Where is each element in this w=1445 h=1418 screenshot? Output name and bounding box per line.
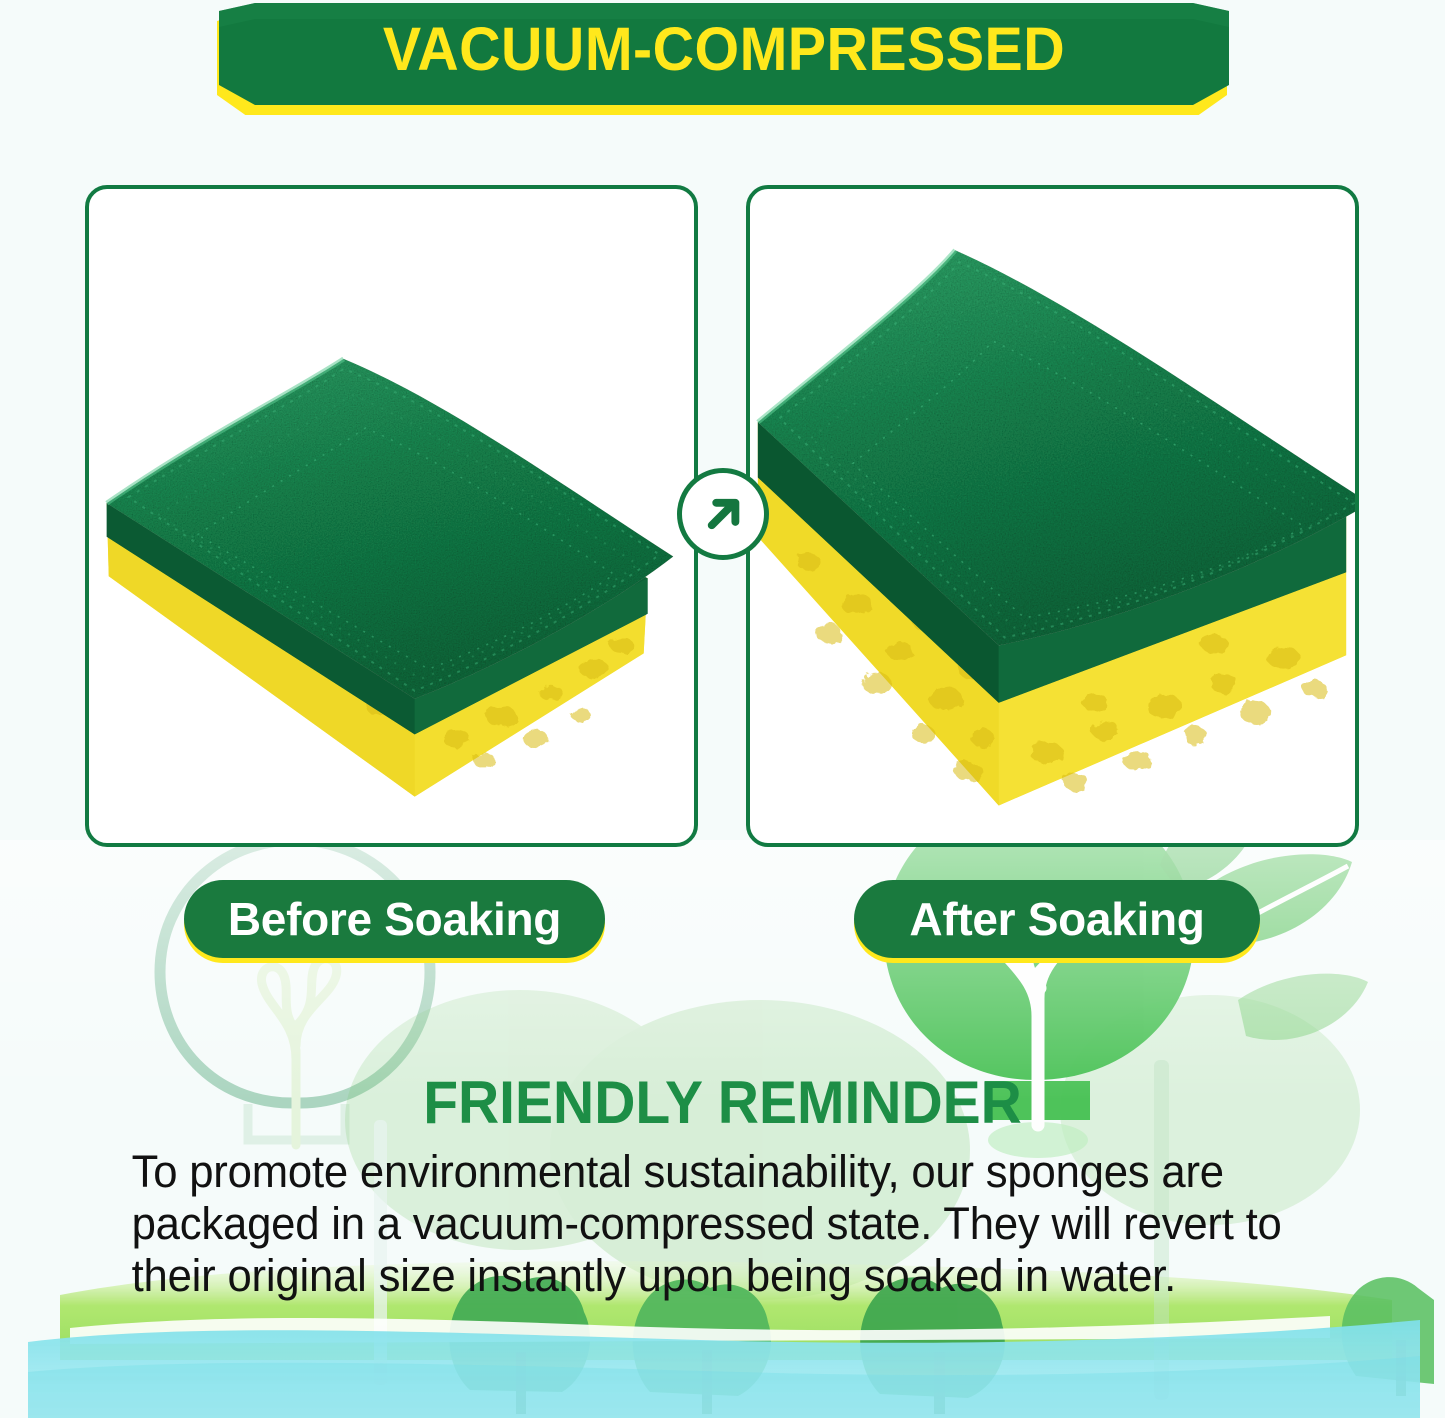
reminder-body-text: To promote environmental sustainability,… [118, 1146, 1292, 1302]
friendly-reminder-section: FRIENDLY REMINDER To promote environment… [0, 1070, 1445, 1302]
banner-title: VACUUM-COMPRESSED [244, 14, 1205, 84]
vacuum-compressed-banner: VACUUM-COMPRESSED [213, 3, 1235, 115]
product-infographic: VACUUM-COMPRESSED [0, 0, 1445, 1418]
caption-before-label: Before Soaking [228, 892, 561, 946]
caption-after-label: After Soaking [909, 892, 1204, 946]
caption-before-soaking: Before Soaking [184, 880, 605, 958]
sponge-image-before [89, 189, 694, 843]
panel-before-soaking[interactable] [85, 185, 698, 847]
leaf-icon [1238, 974, 1368, 1040]
panel-after-soaking[interactable] [746, 185, 1359, 847]
reminder-heading: FRIENDLY REMINDER [36, 1070, 1409, 1136]
sponge-image-after [750, 189, 1355, 843]
caption-after-soaking: After Soaking [854, 880, 1260, 958]
arrow-up-right-icon [677, 468, 769, 560]
arrow-up-right-glyph [696, 487, 750, 541]
